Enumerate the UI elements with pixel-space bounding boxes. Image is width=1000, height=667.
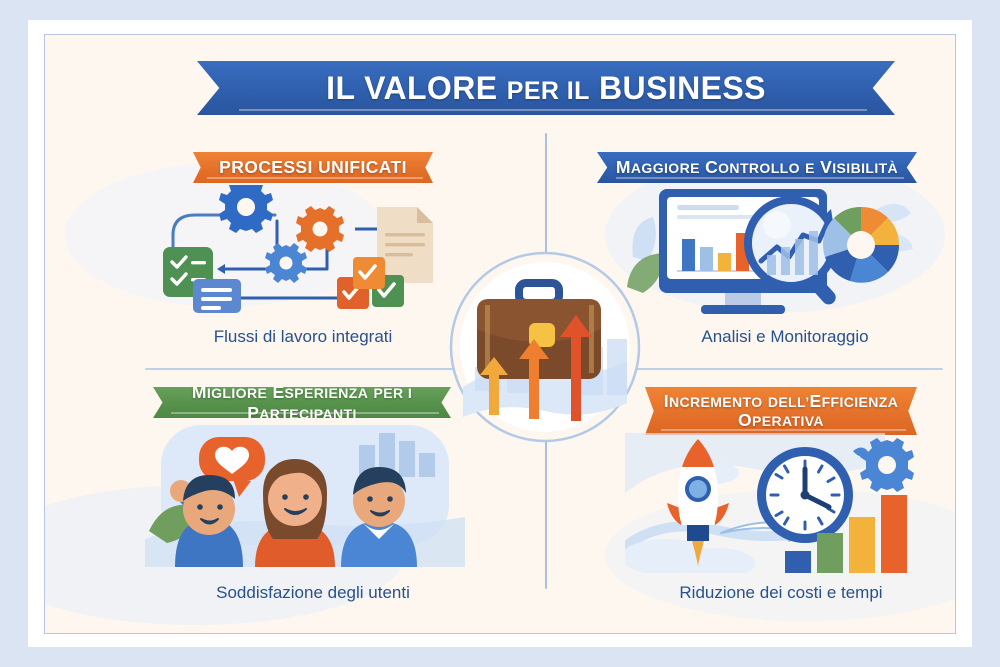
illustration-workflow [155,185,445,313]
donut-chart-icon [823,207,899,283]
infographic-poster: IL VALORE PER IL BUSINESS PROCESSI UNIFI… [0,0,1000,667]
clock-icon [757,447,853,543]
section-banner-label: PROCESSI UNIFICATI [219,157,407,178]
poster-title-banner: IL VALORE PER IL BUSINESS [197,61,895,115]
section-banner-incremento-efficienza: INCREMENTO DELL’EFFICIENZA OPERATIVA [645,387,917,435]
divider-vertical-bottom [545,439,547,589]
page-title: IL VALORE PER IL BUSINESS [326,70,766,107]
section-banner-processi-unificati: PROCESSI UNIFICATI [193,152,433,183]
gear-blue-small [265,243,307,283]
center-medallion [433,247,657,447]
caption-flussi-di-lavoro: Flussi di lavoro integrati [133,327,473,347]
person-center-icon [255,459,335,567]
section-banner-migliore-esperienza: MIGLIORE ESPERIENZA PER I PARTECIPANTI [153,387,451,418]
poster-canvas: IL VALORE PER IL BUSINESS PROCESSI UNIFI… [45,35,955,633]
caption-analisi-monitoraggio: Analisi e Monitoraggio [615,327,955,347]
list-card-icon [193,279,241,313]
illustration-dashboard [625,183,925,315]
illustration-rocket [625,433,935,573]
gear-orange [296,206,344,252]
section-banner-maggiore-controllo: MAGGIORE CONTROLLO E VISIBILITÀ [597,152,917,183]
section-banner-label: MAGGIORE CONTROLLO E VISIBILITÀ [616,157,898,178]
caption-riduzione-costi: Riduzione dei costi e tempi [611,583,951,603]
caption-soddisfazione-utenti: Soddisfazione degli utenti [143,583,483,603]
illustration-people [145,419,465,567]
section-banner-label: INCREMENTO DELL’EFFICIENZA OPERATIVA [664,392,899,430]
section-banner-label: MIGLIORE ESPERIENZA PER I PARTECIPANTI [153,382,451,424]
document-icon [377,207,433,283]
divider-horizontal-right [633,368,943,370]
divider-horizontal-left [145,368,465,370]
gear-blue-large [219,185,273,233]
